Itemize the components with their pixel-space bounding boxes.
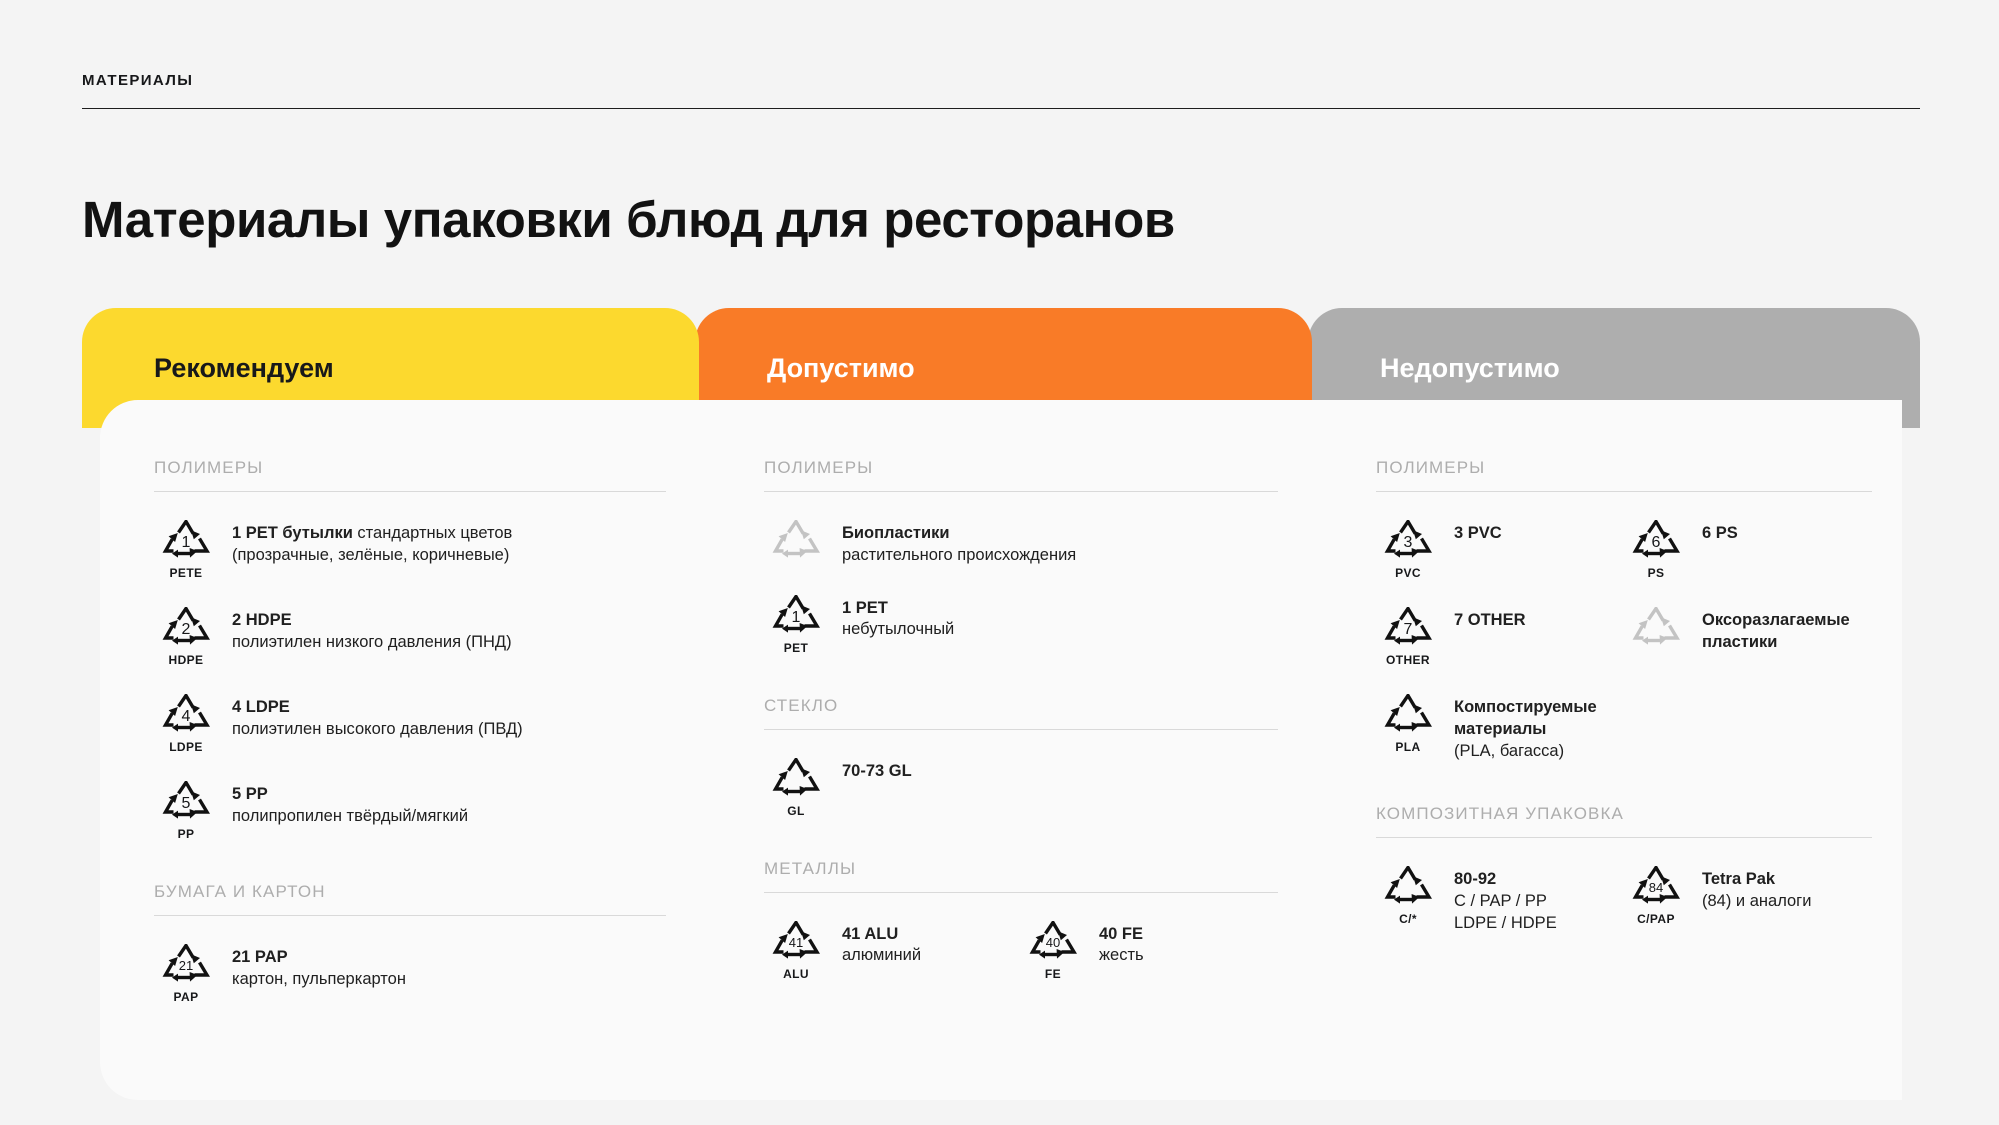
material-item: 41ALU41 ALUалюминий xyxy=(764,919,1021,980)
recycling-code-caption: FE xyxy=(1045,968,1061,980)
material-item-line: C / PAP / PP xyxy=(1454,891,1557,913)
recycling-code-caption: HDPE xyxy=(169,654,204,666)
material-group: МЕТАЛЛЫ41ALU41 ALUалюминий40FE40 FEжесть xyxy=(764,859,1278,1022)
material-description: полиэтилен высокого давления (ПВД) xyxy=(232,720,523,738)
material-item: 5PP5 PPполипропилен твёрдый/мягкий xyxy=(154,779,666,840)
material-item-text: 40 FEжесть xyxy=(1099,919,1144,968)
eyebrow-block: МАТЕРИАЛЫ xyxy=(82,72,1920,109)
column-forbidden: ПОЛИМЕРЫ3PVC3 PVC6PS6 PS7OTHER7 OTHERОкс… xyxy=(1322,458,1902,1100)
material-item-line: Биопластики xyxy=(842,523,1076,545)
material-item-line: 2 HDPE xyxy=(232,610,512,632)
page-title: Материалы упаковки блюд для ресторанов xyxy=(82,190,1175,249)
material-description: (прозрачные, зелёные, коричневые) xyxy=(232,546,509,564)
recycling-icon-box: 4LDPE xyxy=(154,694,218,753)
material-description: жесть xyxy=(1099,946,1144,964)
material-name: 1 PET бутылки xyxy=(232,524,353,542)
material-group-items: 3PVC3 PVC6PS6 PS7OTHER7 OTHERОксоразлага… xyxy=(1376,518,1872,788)
material-item: 1PETE1 PET бутылки стандартных цветов(пр… xyxy=(154,518,666,579)
recycling-icon-box: 5PP xyxy=(154,781,218,840)
material-group-divider xyxy=(1376,837,1872,838)
material-item-line: 70-73 GL xyxy=(842,761,912,783)
material-name: материалы xyxy=(1454,720,1546,738)
recycling-code-caption: GL xyxy=(787,805,804,817)
eyebrow-label: МАТЕРИАЛЫ xyxy=(82,72,1920,89)
material-item-line: Оксоразлагаемые xyxy=(1702,610,1850,632)
recycling-code-number: 3 xyxy=(1382,535,1434,551)
material-item-line: (84) и аналоги xyxy=(1702,891,1811,913)
material-description: алюминий xyxy=(842,946,921,964)
material-name: 80-92 xyxy=(1454,870,1496,888)
recycling-code-number: 41 xyxy=(770,936,822,949)
material-description: растительного происхождения xyxy=(842,546,1076,564)
recycling-code-number: 6 xyxy=(1630,535,1682,551)
material-item-text: 6 PS xyxy=(1702,518,1738,545)
recycling-icon-box: PLA xyxy=(1376,694,1440,753)
mobius-loop-icon: 5 xyxy=(160,781,212,825)
material-item: C/*80-92C / PAP / PPLDPE / HDPE xyxy=(1376,864,1624,934)
material-item: 6PS6 PS xyxy=(1624,518,1872,579)
material-item-text: 21 PAPкартон, пульперкартон xyxy=(232,942,406,991)
group-spacer xyxy=(154,866,666,882)
recycling-icon-box: 2HDPE xyxy=(154,607,218,666)
material-description: (PLA, багасса) xyxy=(1454,742,1564,760)
material-item: 7OTHER7 OTHER xyxy=(1376,605,1624,666)
material-item-line: 5 PP xyxy=(232,784,468,806)
recycling-code-caption: ALU xyxy=(783,968,809,980)
material-item-text: Оксоразлагаемыепластики xyxy=(1702,605,1850,654)
material-item-line: 1 PET xyxy=(842,598,954,620)
recycling-code-number: 4 xyxy=(160,709,212,725)
recycling-icon-box xyxy=(1624,607,1688,651)
recycling-code-caption: C/PAP xyxy=(1637,913,1675,925)
material-name: 5 PP xyxy=(232,785,268,803)
material-item: Биопластикирастительного происхождения xyxy=(764,518,1278,567)
recycling-code-caption: OTHER xyxy=(1386,654,1430,666)
material-group-title: ПОЛИМЕРЫ xyxy=(154,458,666,478)
material-group-items: 21PAP21 PAPкартон, пульперкартон xyxy=(154,942,666,1003)
material-item-line: 3 PVC xyxy=(1454,523,1502,545)
group-spacer xyxy=(764,1006,1278,1022)
material-item: 1PET1 PETнебутылочный xyxy=(764,593,1278,654)
material-item-line: картон, пульперкартон xyxy=(232,969,406,991)
recycling-code-caption: PP xyxy=(178,828,195,840)
mobius-loop-icon xyxy=(1382,694,1434,738)
material-item: GL70-73 GL xyxy=(764,756,1278,817)
material-item-line: 6 PS xyxy=(1702,523,1738,545)
material-group-title: ПОЛИМЕРЫ xyxy=(1376,458,1872,478)
tab-forbidden-label: Недопустимо xyxy=(1380,353,1560,384)
material-item: Оксоразлагаемыепластики xyxy=(1624,605,1872,666)
group-spacer xyxy=(1376,961,1872,977)
mobius-loop-icon: 40 xyxy=(1027,921,1079,965)
material-group-divider xyxy=(764,491,1278,492)
eyebrow-divider xyxy=(82,108,1920,109)
material-item-text: 1 PET бутылки стандартных цветов(прозрач… xyxy=(232,518,512,567)
mobius-loop-icon xyxy=(1630,607,1682,651)
material-group-title: МЕТАЛЛЫ xyxy=(764,859,1278,879)
mobius-loop-icon: 41 xyxy=(770,921,822,965)
material-description: (84) и аналоги xyxy=(1702,892,1811,910)
material-item-text: 70-73 GL xyxy=(842,756,912,783)
recycling-icon-box: 7OTHER xyxy=(1376,607,1440,666)
material-group-title: БУМАГА И КАРТОН xyxy=(154,882,666,902)
material-item-line: полипропилен твёрдый/мягкий xyxy=(232,806,468,828)
material-group: ПОЛИМЕРЫБиопластикирастительного происхо… xyxy=(764,458,1278,696)
material-item-text: 2 HDPEполиэтилен низкого давления (ПНД) xyxy=(232,605,512,654)
material-group-title: КОМПОЗИТНАЯ УПАКОВКА xyxy=(1376,804,1872,824)
material-group-items: C/*80-92C / PAP / PPLDPE / HDPE84C/PAPTe… xyxy=(1376,864,1872,960)
recycling-code-caption: LDPE xyxy=(169,741,203,753)
column-acceptable: ПОЛИМЕРЫБиопластикирастительного происхо… xyxy=(710,458,1322,1100)
material-name: пластики xyxy=(1702,633,1777,651)
recycling-icon-box: 1PET xyxy=(764,595,828,654)
material-item: 3PVC3 PVC xyxy=(1376,518,1624,579)
material-item-text: 80-92C / PAP / PPLDPE / HDPE xyxy=(1454,864,1557,934)
material-group: ПОЛИМЕРЫ1PETE1 PET бутылки стандартных ц… xyxy=(154,458,666,882)
recycling-code-caption: PETE xyxy=(170,567,203,579)
material-item: 40FE40 FEжесть xyxy=(1021,919,1278,980)
recycling-code-number: 7 xyxy=(1382,622,1434,638)
material-name: 2 HDPE xyxy=(232,611,292,629)
material-item-line: алюминий xyxy=(842,945,921,967)
recycling-code-number: 40 xyxy=(1027,936,1079,949)
material-group-divider xyxy=(1376,491,1872,492)
material-item: 21PAP21 PAPкартон, пульперкартон xyxy=(154,942,666,1003)
recycling-code-number: 1 xyxy=(160,535,212,551)
material-item-line: Компостируемые xyxy=(1454,697,1597,719)
material-name: 21 PAP xyxy=(232,948,288,966)
content-card: ПОЛИМЕРЫ1PETE1 PET бутылки стандартных ц… xyxy=(100,400,1902,1100)
material-description: LDPE / HDPE xyxy=(1454,914,1557,932)
mobius-loop-icon: 4 xyxy=(160,694,212,738)
mobius-loop-icon xyxy=(1382,866,1434,910)
tab-acceptable-label: Допустимо xyxy=(767,353,915,384)
recycling-icon-box: 21PAP xyxy=(154,944,218,1003)
material-group-divider xyxy=(764,892,1278,893)
material-name: 6 PS xyxy=(1702,524,1738,542)
material-group: КОМПОЗИТНАЯ УПАКОВКАC/*80-92C / PAP / PP… xyxy=(1376,804,1872,976)
mobius-loop-icon: 1 xyxy=(770,595,822,639)
material-item: 2HDPE2 HDPEполиэтилен низкого давления (… xyxy=(154,605,666,666)
material-group-divider xyxy=(764,729,1278,730)
mobius-loop-icon: 3 xyxy=(1382,520,1434,564)
material-item: 4LDPE4 LDPEполиэтилен высокого давления … xyxy=(154,692,666,753)
material-item-text: Биопластикирастительного происхождения xyxy=(842,518,1076,567)
recycling-code-caption: PET xyxy=(784,642,809,654)
recycling-icon-box: 6PS xyxy=(1624,520,1688,579)
recycling-code-number: 2 xyxy=(160,622,212,638)
material-item-line: 21 PAP xyxy=(232,947,406,969)
material-name: Оксоразлагаемые xyxy=(1702,611,1850,629)
material-group-items: 1PETE1 PET бутылки стандартных цветов(пр… xyxy=(154,518,666,840)
recycling-code-number: 21 xyxy=(160,959,212,972)
recycling-code-caption: PS xyxy=(1648,567,1665,579)
columns-container: ПОЛИМЕРЫ1PETE1 PET бутылки стандартных ц… xyxy=(100,400,1902,1100)
material-item-text: 4 LDPEполиэтилен высокого давления (ПВД) xyxy=(232,692,523,741)
recycling-code-number: 5 xyxy=(160,796,212,812)
recycling-icon-box: GL xyxy=(764,758,828,817)
mobius-loop-icon: 7 xyxy=(1382,607,1434,651)
material-group-divider xyxy=(154,915,666,916)
material-item-line: 1 PET бутылки стандартных цветов xyxy=(232,523,512,545)
material-name: Компостируемые xyxy=(1454,698,1597,716)
material-name: Биопластики xyxy=(842,524,950,542)
mobius-loop-icon xyxy=(770,758,822,802)
material-description: полипропилен твёрдый/мягкий xyxy=(232,807,468,825)
infographic-page: МАТЕРИАЛЫ Материалы упаковки блюд для ре… xyxy=(0,0,1999,1125)
recycling-code-caption: PAP xyxy=(174,991,199,1003)
material-item-line: (PLA, багасса) xyxy=(1454,741,1597,763)
material-description: полиэтилен низкого давления (ПНД) xyxy=(232,633,512,651)
material-item-text: 7 OTHER xyxy=(1454,605,1526,632)
column-recommended: ПОЛИМЕРЫ1PETE1 PET бутылки стандартных ц… xyxy=(100,458,710,1100)
recycling-icon-box: 84C/PAP xyxy=(1624,866,1688,925)
material-item-line: LDPE / HDPE xyxy=(1454,913,1557,935)
recycling-code-caption: C/* xyxy=(1399,913,1417,925)
material-item-text: 5 PPполипропилен твёрдый/мягкий xyxy=(232,779,468,828)
material-description: картон, пульперкартон xyxy=(232,970,406,988)
mobius-loop-icon xyxy=(770,520,822,564)
material-name: 40 FE xyxy=(1099,925,1143,943)
material-group-title: СТЕКЛО xyxy=(764,696,1278,716)
material-item-line: 80-92 xyxy=(1454,869,1557,891)
recycling-code-number: 84 xyxy=(1630,881,1682,894)
material-item-line: Tetra Pak xyxy=(1702,869,1811,891)
material-item: 84C/PAPTetra Pak(84) и аналоги xyxy=(1624,864,1872,934)
mobius-loop-icon: 2 xyxy=(160,607,212,651)
recycling-code-caption: PVC xyxy=(1395,567,1421,579)
material-group-items: 41ALU41 ALUалюминий40FE40 FEжесть xyxy=(764,919,1278,1006)
material-group-title: ПОЛИМЕРЫ xyxy=(764,458,1278,478)
material-item-line: 4 LDPE xyxy=(232,697,523,719)
material-description: стандартных цветов xyxy=(353,524,512,542)
group-spacer xyxy=(764,843,1278,859)
tab-recommended-label: Рекомендуем xyxy=(154,353,334,384)
material-group-items: Биопластикирастительного происхождения1P… xyxy=(764,518,1278,654)
group-spacer xyxy=(154,1029,666,1045)
mobius-loop-icon: 84 xyxy=(1630,866,1682,910)
recycling-icon-box: C/* xyxy=(1376,866,1440,925)
material-item-text: 3 PVC xyxy=(1454,518,1502,545)
material-name: 3 PVC xyxy=(1454,524,1502,542)
material-item-line: растительного происхождения xyxy=(842,545,1076,567)
material-name: 7 OTHER xyxy=(1454,611,1526,629)
material-group: СТЕКЛОGL70-73 GL xyxy=(764,696,1278,859)
material-item-line: 41 ALU xyxy=(842,924,921,946)
mobius-loop-icon: 6 xyxy=(1630,520,1682,564)
recycling-icon-box: 41ALU xyxy=(764,921,828,980)
material-item-line: 40 FE xyxy=(1099,924,1144,946)
recycling-code-caption: PLA xyxy=(1395,741,1420,753)
material-item-line: (прозрачные, зелёные, коричневые) xyxy=(232,545,512,567)
material-group: ПОЛИМЕРЫ3PVC3 PVC6PS6 PS7OTHER7 OTHERОкс… xyxy=(1376,458,1872,804)
material-item-line: 7 OTHER xyxy=(1454,610,1526,632)
mobius-loop-icon: 21 xyxy=(160,944,212,988)
material-item-line: материалы xyxy=(1454,719,1597,741)
material-description: C / PAP / PP xyxy=(1454,892,1547,910)
material-item-line: полиэтилен высокого давления (ПВД) xyxy=(232,719,523,741)
material-item-line: жесть xyxy=(1099,945,1144,967)
material-item-line: полиэтилен низкого давления (ПНД) xyxy=(232,632,512,654)
recycling-icon-box: 40FE xyxy=(1021,921,1085,980)
material-item-text: 41 ALUалюминий xyxy=(842,919,921,968)
material-item: PLAКомпостируемыематериалы(PLA, багасса) xyxy=(1376,692,1624,762)
material-group-items: GL70-73 GL xyxy=(764,756,1278,817)
mobius-loop-icon: 1 xyxy=(160,520,212,564)
material-name: 41 ALU xyxy=(842,925,898,943)
group-spacer xyxy=(764,680,1278,696)
material-group: БУМАГА И КАРТОН21PAP21 PAPкартон, пульпе… xyxy=(154,882,666,1045)
material-item-line: небутылочный xyxy=(842,619,954,641)
material-item-text: 1 PETнебутылочный xyxy=(842,593,954,642)
material-group-divider xyxy=(154,491,666,492)
recycling-icon-box: 1PETE xyxy=(154,520,218,579)
recycling-icon-box: 3PVC xyxy=(1376,520,1440,579)
recycling-icon-box xyxy=(764,520,828,564)
recycling-code-number: 1 xyxy=(770,610,822,626)
material-item-line: пластики xyxy=(1702,632,1850,654)
material-name: 70-73 GL xyxy=(842,762,912,780)
group-spacer xyxy=(1376,788,1872,804)
material-item-text: Компостируемыематериалы(PLA, багасса) xyxy=(1454,692,1597,762)
material-name: 4 LDPE xyxy=(232,698,290,716)
material-name: Tetra Pak xyxy=(1702,870,1775,888)
material-name: 1 PET xyxy=(842,599,888,617)
material-description: небутылочный xyxy=(842,620,954,638)
material-item-text: Tetra Pak(84) и аналоги xyxy=(1702,864,1811,913)
